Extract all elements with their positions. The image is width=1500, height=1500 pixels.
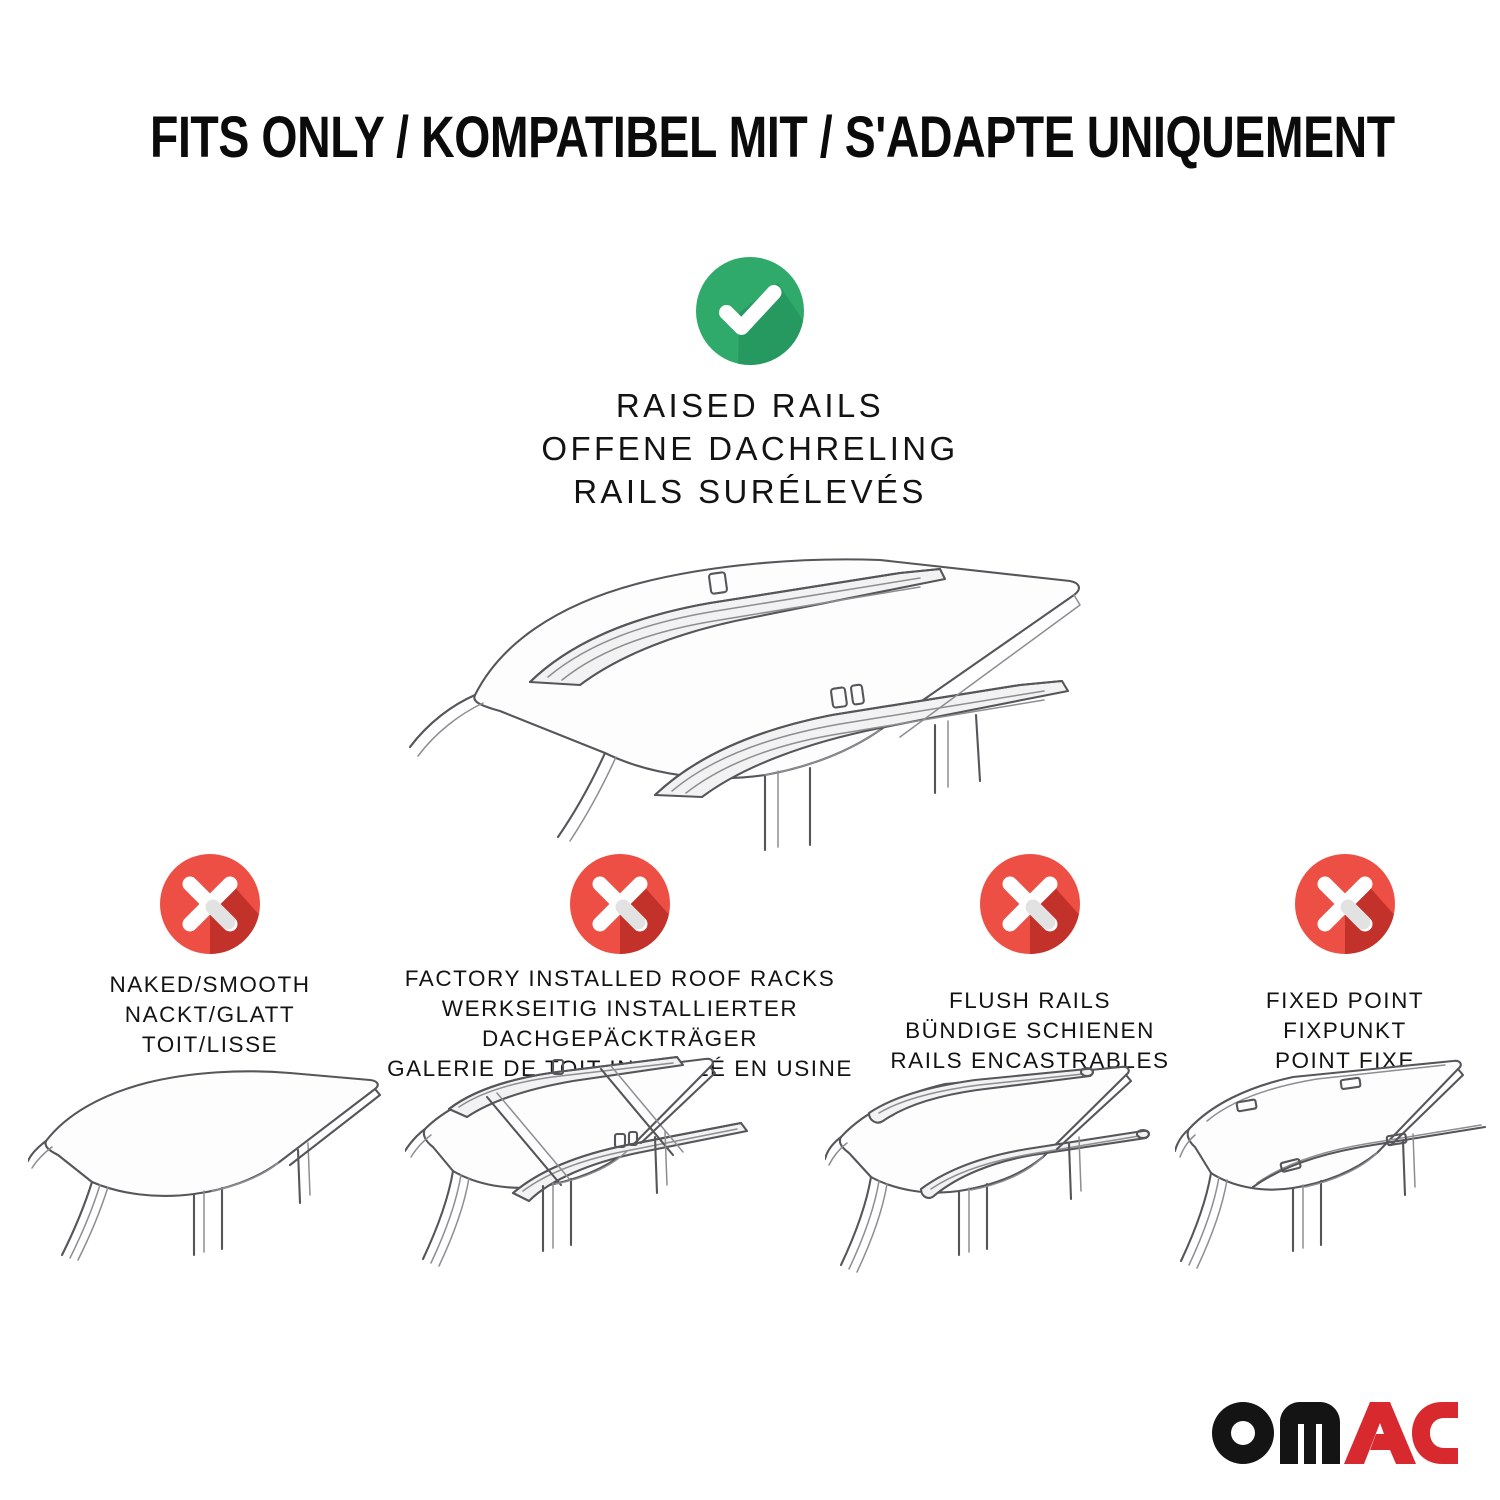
incompatible-column-naked-smooth: NAKED/SMOOTH NACKT/GLATT TOIT/LISSE bbox=[40, 852, 380, 1060]
compatible-icon-wrap bbox=[0, 255, 1500, 377]
incompatible-label-line: FIXED POINT bbox=[1200, 986, 1490, 1016]
incompatible-label-line: BÜNDIGE SCHIENEN bbox=[860, 1016, 1200, 1046]
logo-letter-c bbox=[1412, 1402, 1458, 1464]
check-circle-icon bbox=[694, 255, 806, 367]
x-circle-icon bbox=[40, 852, 380, 960]
fitment-infographic: FITS ONLY / KOMPATIBEL MIT / S'ADAPTE UN… bbox=[0, 0, 1500, 1500]
incompatible-label-line: DACHGEPÄCKTRÄGER bbox=[385, 1024, 855, 1054]
compatible-label-line: RAISED RAILS bbox=[0, 385, 1500, 428]
incompatible-label-line: FACTORY INSTALLED ROOF RACKS bbox=[385, 964, 855, 994]
logo-letter-a bbox=[1344, 1402, 1416, 1464]
page-title: FITS ONLY / KOMPATIBEL MIT / S'ADAPTE UN… bbox=[150, 104, 1350, 171]
incompatible-section: NAKED/SMOOTH NACKT/GLATT TOIT/LISSE bbox=[0, 852, 1500, 1062]
incompatible-label-line: NACKT/GLATT bbox=[40, 1000, 380, 1030]
incompatible-column-fixed-point: FIXED POINT FIXPUNKT POINT FIXE bbox=[1200, 852, 1490, 1076]
car-roof-fixed-point-illustration bbox=[1175, 1055, 1500, 1305]
incompatible-column-flush-rails: FLUSH RAILS BÜNDIGE SCHIENEN RAILS ENCAS… bbox=[860, 852, 1200, 1076]
logo-letter-m bbox=[1280, 1402, 1340, 1464]
incompatible-label-line: WERKSEITIG INSTALLIERTER bbox=[385, 994, 855, 1024]
incompatible-label-line: NAKED/SMOOTH bbox=[40, 970, 380, 1000]
car-roof-raised-rails-illustration bbox=[380, 525, 1140, 855]
x-circle-icon bbox=[1200, 852, 1490, 960]
compatible-label-line: RAILS SURÉLEVÉS bbox=[0, 471, 1500, 514]
compatible-section: RAISED RAILS OFFENE DACHRELING RAILS SUR… bbox=[0, 255, 1500, 514]
compatible-label-line: OFFENE DACHRELING bbox=[0, 428, 1500, 471]
x-circle-icon bbox=[860, 852, 1200, 960]
incompatible-column-factory-roof-racks: FACTORY INSTALLED ROOF RACKS WERKSEITIG … bbox=[385, 852, 855, 1085]
car-roof-factory-roof-racks-illustration bbox=[405, 1055, 785, 1305]
car-roof-flush-rails-illustration bbox=[825, 1055, 1205, 1305]
car-roof-naked-smooth-illustration bbox=[28, 1055, 408, 1305]
omac-logo bbox=[1210, 1400, 1460, 1466]
incompatible-illustrations bbox=[0, 1055, 1500, 1305]
x-circle-icon bbox=[385, 852, 855, 960]
incompatible-label-line: FLUSH RAILS bbox=[860, 986, 1200, 1016]
incompatible-label-line: FIXPUNKT bbox=[1200, 1016, 1490, 1046]
logo-letter-o bbox=[1212, 1402, 1274, 1464]
compatible-labels: RAISED RAILS OFFENE DACHRELING RAILS SUR… bbox=[0, 385, 1500, 514]
incompatible-labels: NAKED/SMOOTH NACKT/GLATT TOIT/LISSE bbox=[40, 970, 380, 1060]
